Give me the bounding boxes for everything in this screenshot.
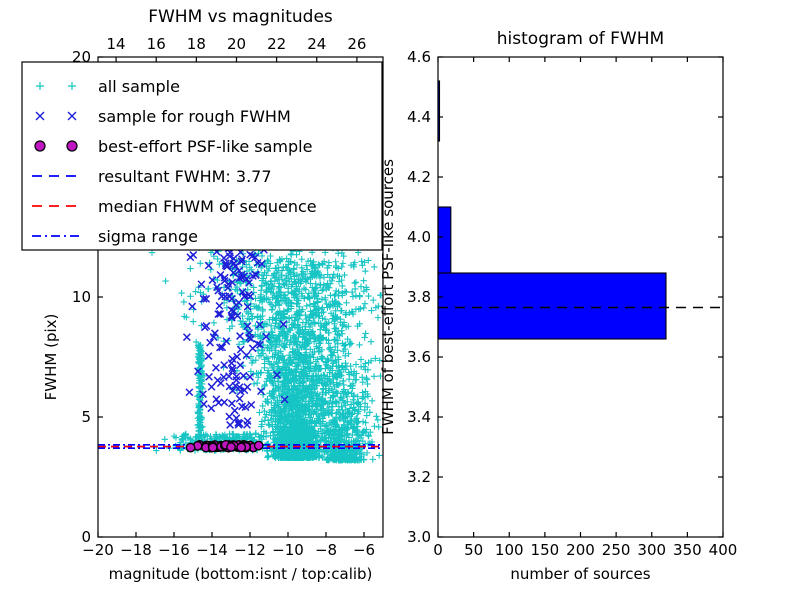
hist-x-tick-label: 50: [464, 541, 483, 559]
hist-y-tick-label: 3.2: [407, 468, 431, 486]
scatter-point-all: [162, 278, 168, 284]
scatter-point-all: [256, 409, 262, 415]
left-panel-top-axis: 14161820222426: [107, 35, 367, 62]
scatter-point-rough: [249, 345, 256, 352]
top-axis-tick-label: 18: [187, 35, 206, 53]
scatter-point-all: [317, 282, 323, 288]
y-axis-tick-label: 5: [81, 408, 91, 426]
legend: all samplesample for rough FWHMbest-effo…: [22, 62, 382, 250]
scatter-point-all: [371, 423, 377, 429]
top-axis-tick-label: 14: [107, 35, 126, 53]
scatter-point-all: [371, 373, 377, 379]
scatter-point-all: [343, 300, 349, 306]
series-all-sample: [149, 222, 384, 464]
scatter-point-psf: [186, 443, 194, 451]
scatter-point-all: [362, 268, 368, 274]
scatter-point-rough: [237, 333, 244, 340]
bottom-axis-tick-label: −8: [315, 541, 337, 559]
scatter-point-all: [332, 259, 338, 265]
scatter-point-all: [357, 294, 363, 300]
scatter-point-rough: [233, 377, 240, 384]
right-panel-ylabel: FWHM of best-effort PSF-like sources: [379, 159, 397, 435]
scatter-point-rough: [227, 422, 234, 429]
scatter-point-rough: [236, 395, 243, 402]
scatter-point-all: [353, 279, 359, 285]
scatter-point-rough: [229, 400, 236, 407]
scatter-point-all: [362, 360, 368, 366]
scatter-point-all: [264, 454, 270, 460]
legend-item-label: sample for rough FWHM: [98, 107, 291, 126]
scatter-point-all: [254, 380, 260, 386]
scatter-point-all: [288, 252, 294, 258]
scatter-point-rough: [213, 364, 220, 371]
scatter-point-rough: [208, 383, 215, 390]
scatter-point-all: [360, 277, 366, 283]
bottom-axis-tick-label: −16: [158, 541, 190, 559]
scatter-point-all: [343, 289, 349, 295]
scatter-point-all: [376, 452, 382, 458]
hist-y-tick-label: 4.2: [407, 168, 431, 186]
top-axis-tick-label: 20: [227, 35, 246, 53]
hist-x-tick-label: 350: [673, 541, 702, 559]
scatter-point-all: [299, 256, 305, 262]
scatter-data: [149, 222, 384, 464]
bottom-axis-tick-label: −10: [272, 541, 304, 559]
scatter-point-all: [358, 356, 364, 362]
scatter-point-all: [362, 330, 368, 336]
scatter-point-all: [266, 422, 272, 428]
top-axis-tick-label: 24: [307, 35, 326, 53]
scatter-point-all: [352, 286, 358, 292]
scatter-point-all: [362, 300, 368, 306]
hist-y-tick-label: 3.8: [407, 288, 431, 306]
scatter-point-all: [304, 303, 310, 309]
bottom-axis-tick-label: −18: [120, 541, 152, 559]
scatter-point-all: [370, 297, 376, 303]
top-axis-tick-label: 22: [267, 35, 286, 53]
scatter-point-psf: [237, 443, 245, 451]
scatter-point-all: [364, 412, 370, 418]
bottom-axis-tick-label: −14: [196, 541, 228, 559]
scatter-point-rough: [226, 413, 233, 420]
scatter-point-all: [269, 307, 275, 313]
scatter-point-all: [187, 265, 193, 271]
scatter-point-all: [190, 318, 196, 324]
scatter-point-rough: [237, 346, 244, 353]
bottom-axis-tick-label: −12: [234, 541, 266, 559]
scatter-point-all: [353, 293, 359, 299]
figure-canvas: FWHM vs magnitudes14161820222426−20−18−1…: [0, 0, 800, 600]
scatter-point-all: [275, 360, 281, 366]
histogram-bar: [438, 273, 666, 339]
scatter-point-rough: [233, 373, 240, 380]
scatter-point-rough: [186, 389, 193, 396]
legend-item-label: best-effort PSF-like sample: [98, 137, 312, 156]
hist-y-tick-label: 4.6: [407, 48, 431, 66]
scatter-point-all: [356, 342, 362, 348]
scatter-point-all: [341, 272, 347, 278]
hist-x-tick-label: 300: [637, 541, 666, 559]
scatter-point-psf: [209, 443, 217, 451]
legend-item-label: all sample: [98, 77, 180, 96]
hist-x-tick-label: 400: [709, 541, 738, 559]
scatter-point-all: [369, 398, 375, 404]
histogram-bar: [438, 207, 451, 273]
filled-circle-icon: [67, 141, 77, 151]
left-panel-title: FWHM vs magnitudes: [148, 7, 333, 27]
scatter-point-rough: [190, 252, 197, 259]
scatter-point-rough: [206, 373, 213, 380]
scatter-point-all: [339, 283, 345, 289]
scatter-point-all: [251, 381, 257, 387]
y-axis-tick-label: 0: [81, 528, 91, 546]
y-axis-tick-label: 10: [72, 288, 91, 306]
scatter-point-rough: [183, 334, 190, 341]
scatter-point-rough: [216, 302, 223, 309]
scatter-point-all: [259, 418, 265, 424]
hist-x-tick-label: 200: [566, 541, 595, 559]
top-axis-tick-label: 16: [147, 35, 166, 53]
right-panel: histogram of FWHM05010015020025030035040…: [379, 29, 737, 583]
scatter-point-all: [302, 287, 308, 293]
scatter-point-all: [197, 260, 203, 266]
scatter-point-rough: [214, 377, 221, 384]
scatter-point-all: [371, 264, 377, 270]
top-axis-tick-label: 26: [347, 35, 366, 53]
scatter-point-rough: [208, 405, 215, 412]
scatter-point-psf: [227, 443, 235, 451]
scatter-point-psf: [255, 441, 263, 449]
scatter-point-all: [361, 334, 367, 340]
scatter-point-all: [368, 338, 374, 344]
scatter-point-all: [370, 456, 376, 462]
hist-x-tick-label: 0: [433, 541, 443, 559]
scatter-point-all: [346, 376, 352, 382]
scatter-point-all: [178, 290, 184, 296]
scatter-point-all: [205, 286, 211, 292]
legend-item-label: sigma range: [98, 227, 198, 246]
hist-y-tick-label: 3.6: [407, 348, 431, 366]
hist-y-tick-label: 3.4: [407, 408, 431, 426]
histogram-bars: [438, 81, 666, 339]
scatter-point-all: [358, 258, 364, 264]
scatter-point-all: [181, 299, 187, 305]
filled-circle-icon: [35, 141, 45, 151]
legend-item-label: resultant FWHM: 3.77: [98, 167, 272, 186]
scatter-point-all: [330, 271, 336, 277]
hist-x-tick-label: 150: [531, 541, 560, 559]
scatter-point-rough: [221, 399, 228, 406]
scatter-point-all: [349, 289, 355, 295]
scatter-point-all: [340, 260, 346, 266]
scatter-point-all: [211, 320, 217, 326]
scatter-point-all: [258, 369, 264, 375]
scatter-point-rough: [205, 353, 212, 360]
left-panel-xlabel: magnitude (bottom:isnt / top:calib): [109, 565, 373, 583]
scatter-point-all: [192, 288, 198, 294]
series-psf-like: [186, 441, 263, 452]
scatter-point-all: [319, 261, 325, 267]
matplotlib-figure: FWHM vs magnitudes14161820222426−20−18−1…: [0, 0, 800, 600]
scatter-point-all: [162, 436, 168, 442]
legend-box: [22, 62, 382, 250]
right-panel-xlabel: number of sources: [510, 565, 650, 583]
hist-x-tick-label: 100: [495, 541, 524, 559]
scatter-point-all: [363, 375, 369, 381]
scatter-point-all: [365, 293, 371, 299]
scatter-point-rough: [248, 401, 255, 408]
hist-y-tick-label: 4.4: [407, 108, 431, 126]
scatter-point-all: [344, 363, 350, 369]
scatter-point-rough: [258, 388, 265, 395]
scatter-point-all: [351, 280, 357, 286]
scatter-point-rough: [240, 372, 247, 379]
scatter-point-all: [368, 307, 374, 313]
hist-y-tick-label: 4.0: [407, 228, 431, 246]
bottom-axis-tick-label: −6: [353, 541, 375, 559]
left-panel-ylabel: FWHM (pix): [42, 314, 60, 401]
scatter-point-all: [350, 293, 356, 299]
right-panel-title: histogram of FWHM: [497, 29, 664, 49]
hist-y-tick-label: 3.0: [407, 528, 431, 546]
scatter-point-all: [339, 264, 345, 270]
legend-item-label: median FHWM of sequence: [98, 197, 317, 216]
scatter-point-all: [358, 283, 364, 289]
scatter-point-all: [348, 340, 354, 346]
scatter-point-all: [361, 305, 367, 311]
hist-x-tick-label: 250: [602, 541, 631, 559]
scatter-point-all: [187, 293, 193, 299]
